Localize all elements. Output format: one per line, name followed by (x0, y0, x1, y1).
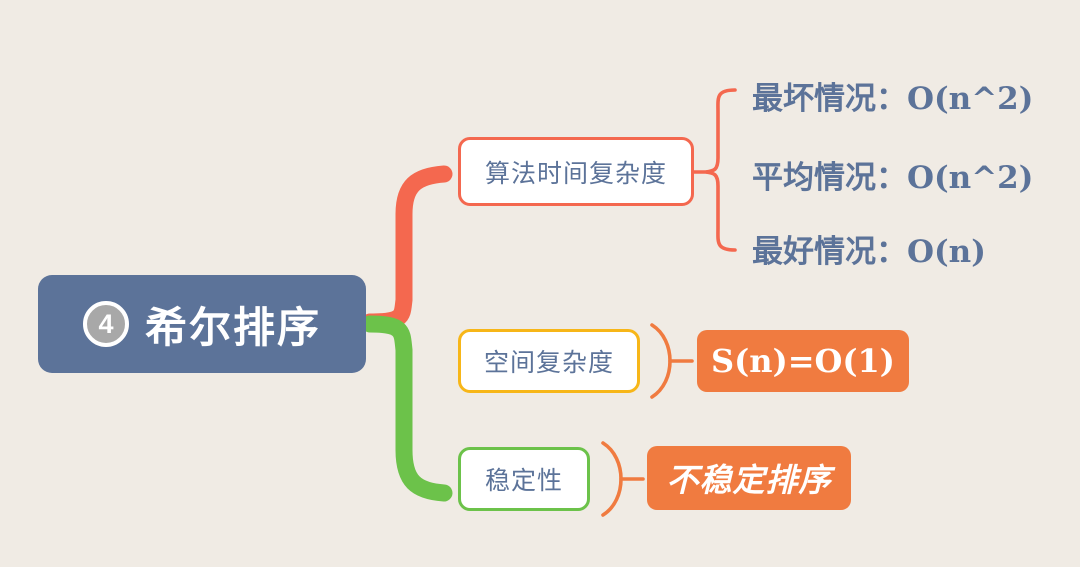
branch-node-space-complexity[interactable]: 空间复杂度 (458, 329, 640, 393)
arc-stability (603, 443, 621, 515)
root-node[interactable]: 4 希尔排序 (38, 275, 366, 373)
brace-time-complexity (706, 90, 735, 250)
trunk-lower-green (370, 324, 444, 493)
arc-space-complexity (652, 325, 670, 397)
root-number-badge: 4 (83, 301, 129, 347)
trunk-upper-coral (370, 174, 444, 322)
leaf-average-case: 平均情况：O(n^2) (752, 152, 1033, 197)
leaf-space-complexity-value: S(n)=O(1) (697, 330, 909, 392)
branch-node-time-complexity[interactable]: 算法时间复杂度 (458, 137, 694, 206)
branch-node-stability[interactable]: 稳定性 (458, 447, 590, 511)
mindmap-canvas: 4 希尔排序 算法时间复杂度 空间复杂度 稳定性 最坏情况：O(n^2) 平均情… (0, 0, 1080, 567)
leaf-stability-value: 不稳定排序 (647, 446, 851, 510)
leaf-best-case: 最好情况：O(n) (752, 226, 986, 271)
root-title: 希尔排序 (145, 294, 321, 355)
leaf-worst-case: 最坏情况：O(n^2) (752, 73, 1033, 118)
